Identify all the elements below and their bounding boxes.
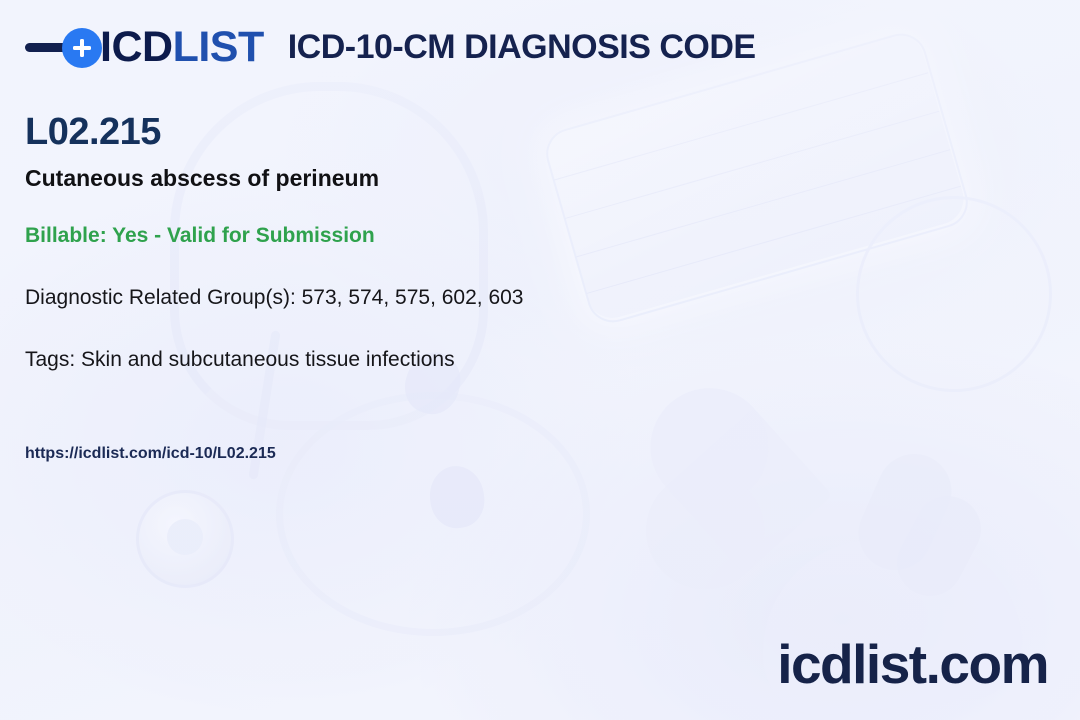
plus-circle-icon xyxy=(62,28,102,68)
billable-status-badge: Billable: Yes - Valid for Submission xyxy=(25,224,375,247)
brand-wordmark-list: LIST xyxy=(173,23,264,71)
tags-line: Tags: Skin and subcutaneous tissue infec… xyxy=(25,348,455,371)
page-header: ICDLIST ICD-10-CM DIAGNOSIS CODE xyxy=(25,26,756,69)
source-url[interactable]: https://icdlist.com/icd-10/L02.215 xyxy=(25,445,276,463)
page-title: ICD-10-CM DIAGNOSIS CODE xyxy=(288,30,756,66)
diagnostic-related-groups: Diagnostic Related Group(s): 573, 574, 5… xyxy=(25,286,523,309)
site-watermark: icdlist.com xyxy=(777,637,1048,692)
icd-code-card: ICDLIST ICD-10-CM DIAGNOSIS CODE L02.215… xyxy=(0,0,1080,720)
diagnosis-description: Cutaneous abscess of perineum xyxy=(25,166,379,191)
icdlist-logo[interactable]: ICDLIST xyxy=(25,26,264,69)
card-content: ICDLIST ICD-10-CM DIAGNOSIS CODE L02.215… xyxy=(0,0,1080,720)
diagnosis-code: L02.215 xyxy=(25,113,161,151)
brand-wordmark-icd: ICD xyxy=(100,23,173,71)
brand-wordmark: ICDLIST xyxy=(100,26,264,69)
